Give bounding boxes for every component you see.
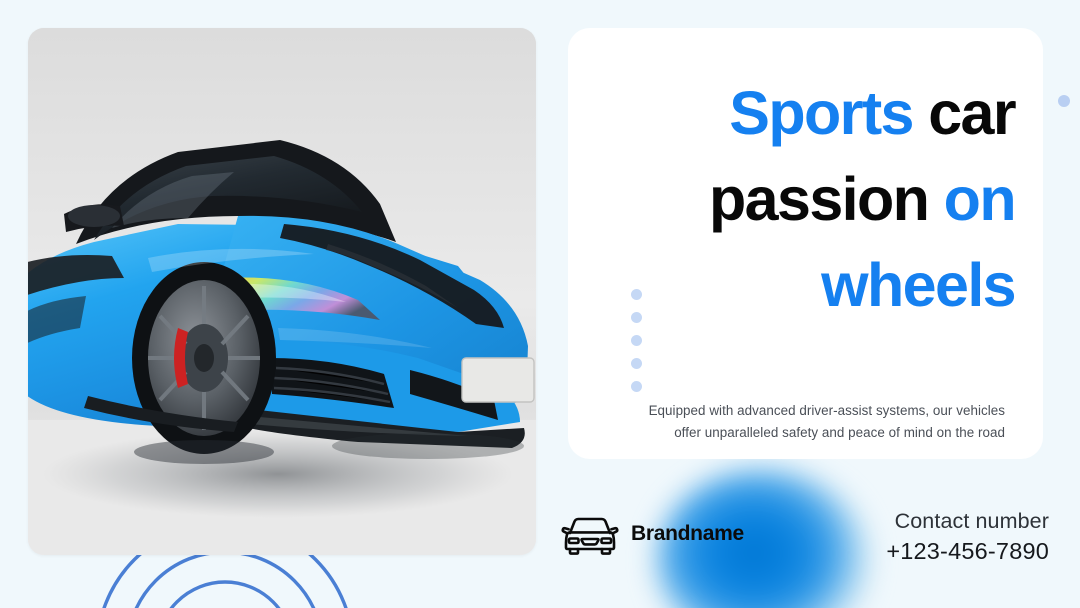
accent-dot-icon [1058,95,1070,107]
headline-word-on: on [944,165,1015,233]
hero-car-image [28,28,536,555]
decor-dot-icon [631,381,642,392]
decor-dot-icon [631,335,642,346]
headline-word-sports: Sports [729,79,913,147]
decor-dot-icon [631,358,642,369]
decor-dot-icon [631,312,642,323]
body-description: Equipped with advanced driver-assist sys… [630,400,1005,444]
car-front-icon [561,512,619,556]
page-title: Sports car passion on wheels [596,70,1015,328]
decor-dot-icon [631,289,642,300]
headline-word-passion: passion [709,165,944,233]
poster-canvas: Sports car passion on wheels Equipped wi… [0,0,1080,608]
headline-word-car: car [913,79,1015,147]
contact-block: Contact number +123-456-7890 [886,506,1049,567]
headline-card: Sports car passion on wheels Equipped wi… [568,28,1043,459]
headline-word-wheels: wheels [821,251,1015,319]
brand-name-label: Brandname [631,522,744,546]
dot-column-decoration [631,289,642,392]
contact-label: Contact number [886,506,1049,536]
brand-lockup: Brandname [561,512,744,556]
contact-number[interactable]: +123-456-7890 [886,536,1049,567]
